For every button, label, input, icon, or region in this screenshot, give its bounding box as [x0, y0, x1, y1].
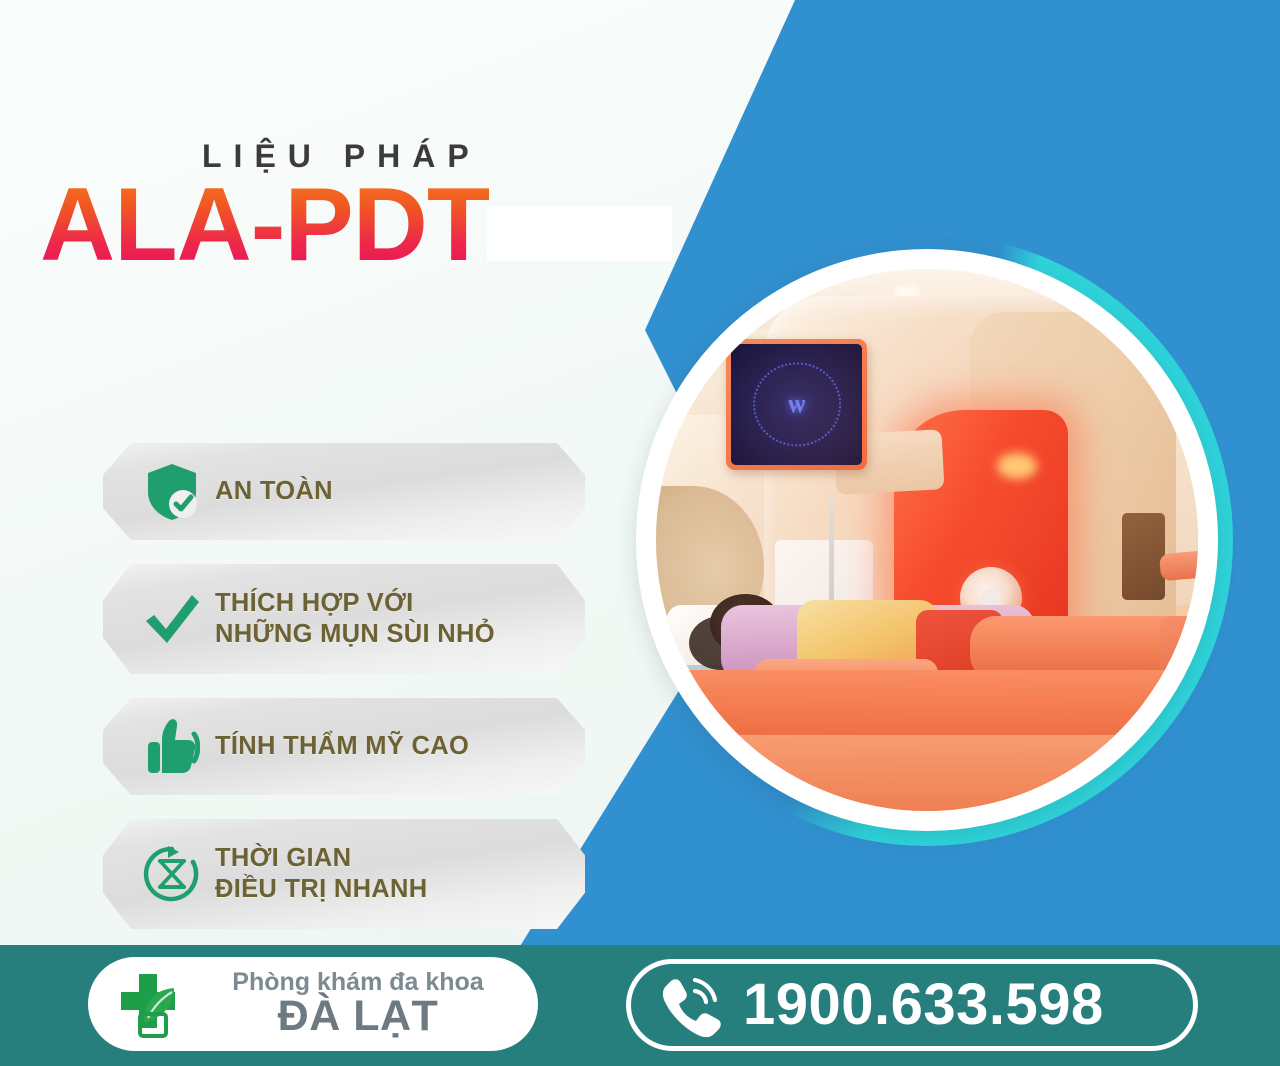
medical-cross-leaf-icon [102, 966, 194, 1042]
feature-badge-tham-my[interactable]: TÍNH THẨM MỸ CAO [103, 698, 585, 795]
clinic-text-block: Phòng khám đa khoa ĐÀ LẠT [204, 969, 538, 1039]
page-title: ALA-PDT [40, 178, 489, 274]
clinic-name: ĐÀ LẠT [204, 995, 512, 1039]
feature-label-line1: AN TOÀN [215, 477, 333, 505]
feature-label-line1: THÍCH HỢP VỚI [215, 589, 414, 617]
check-mark-icon [129, 591, 215, 647]
headline-block: LIỆU PHÁP ALA-PDT [40, 140, 680, 274]
feature-label-line2: NHỮNG MỤN SÙI NHỎ [215, 619, 495, 650]
photo-warm-tint [656, 269, 1198, 811]
feature-list: AN TOÀN THÍCH HỢP VỚI NHỮNG MỤN SÙI NHỎ [103, 443, 593, 953]
hourglass-clock-icon [129, 843, 215, 905]
feature-badge-label: AN TOÀN [215, 476, 333, 507]
feature-badge-thoi-gian[interactable]: THỜI GIAN ĐIỀU TRỊ NHANH [103, 819, 585, 929]
thumbs-up-icon [129, 718, 215, 776]
feature-label-line1: TÍNH THẨM MỸ CAO [215, 732, 469, 760]
pdt-treatment-photo: ѡ [656, 269, 1198, 811]
headline-title-wrap: ALA-PDT [40, 178, 680, 274]
feature-badge-label: TÍNH THẨM MỸ CAO [215, 731, 469, 762]
phone-number: 1900.633.598 [743, 976, 1104, 1034]
phone-cta-pill[interactable]: 1900.633.598 [626, 959, 1198, 1051]
poster-canvas: LIỆU PHÁP ALA-PDT AN TOÀN [0, 0, 1280, 1066]
feature-label-line2: ĐIỀU TRỊ NHANH [215, 874, 427, 905]
shield-check-icon [129, 462, 215, 522]
title-blank-overlay [487, 206, 672, 261]
feature-badge-label: THÍCH HỢP VỚI NHỮNG MỤN SÙI NHỎ [215, 588, 495, 650]
feature-label-line1: THỜI GIAN [215, 844, 351, 872]
footer-bar: Phòng khám đa khoa ĐÀ LẠT 1900.633.598 [0, 945, 1280, 1066]
ringing-phone-icon [649, 972, 731, 1038]
feature-badge-an-toan[interactable]: AN TOÀN [103, 443, 585, 540]
feature-badge-label: THỜI GIAN ĐIỀU TRỊ NHANH [215, 843, 427, 905]
feature-badge-thich-hop[interactable]: THÍCH HỢP VỚI NHỮNG MỤN SÙI NHỎ [103, 564, 585, 674]
clinic-branding-pill[interactable]: Phòng khám đa khoa ĐÀ LẠT [88, 957, 538, 1051]
